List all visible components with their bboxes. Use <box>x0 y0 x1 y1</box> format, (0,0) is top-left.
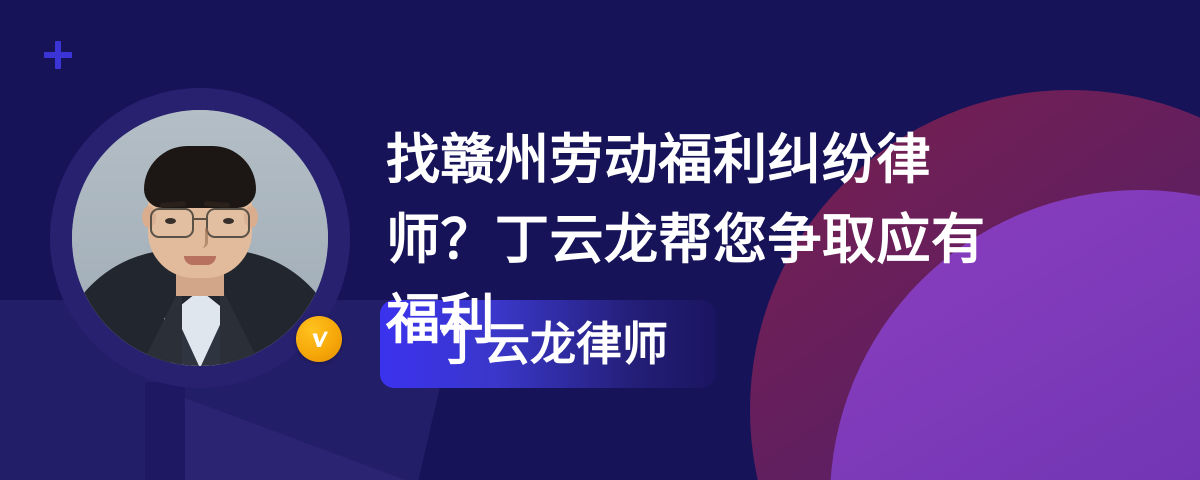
wedge-band <box>145 382 185 480</box>
page-title: 找赣州劳动福利纠纷律 师？丁云龙帮您争取应有 福利 <box>386 120 1066 360</box>
portrait-hair <box>144 146 256 208</box>
headline-block: 找赣州劳动福利纠纷律 师？丁云龙帮您争取应有 福利 <box>386 120 1066 360</box>
portrait-mouth <box>184 256 216 265</box>
verified-badge-icon <box>296 316 342 362</box>
plus-icon <box>44 41 72 69</box>
glasses-lens-left <box>150 208 194 238</box>
wedge-shape-triangle <box>185 398 615 480</box>
glasses-lens-right <box>206 208 250 238</box>
avatar-photo <box>72 110 328 366</box>
promo-banner: 丁云龙律师 找赣州劳动福利纠纷律 师？丁云龙帮您争取应有 福利 <box>0 0 1200 480</box>
headline-line-2: 师？丁云龙帮您争取应有 <box>386 200 1066 280</box>
headline-line-3: 福利 <box>386 280 1066 360</box>
avatar <box>50 88 350 388</box>
portrait-nose <box>195 228 208 248</box>
headline-line-1: 找赣州劳动福利纠纷律 <box>386 120 1066 200</box>
